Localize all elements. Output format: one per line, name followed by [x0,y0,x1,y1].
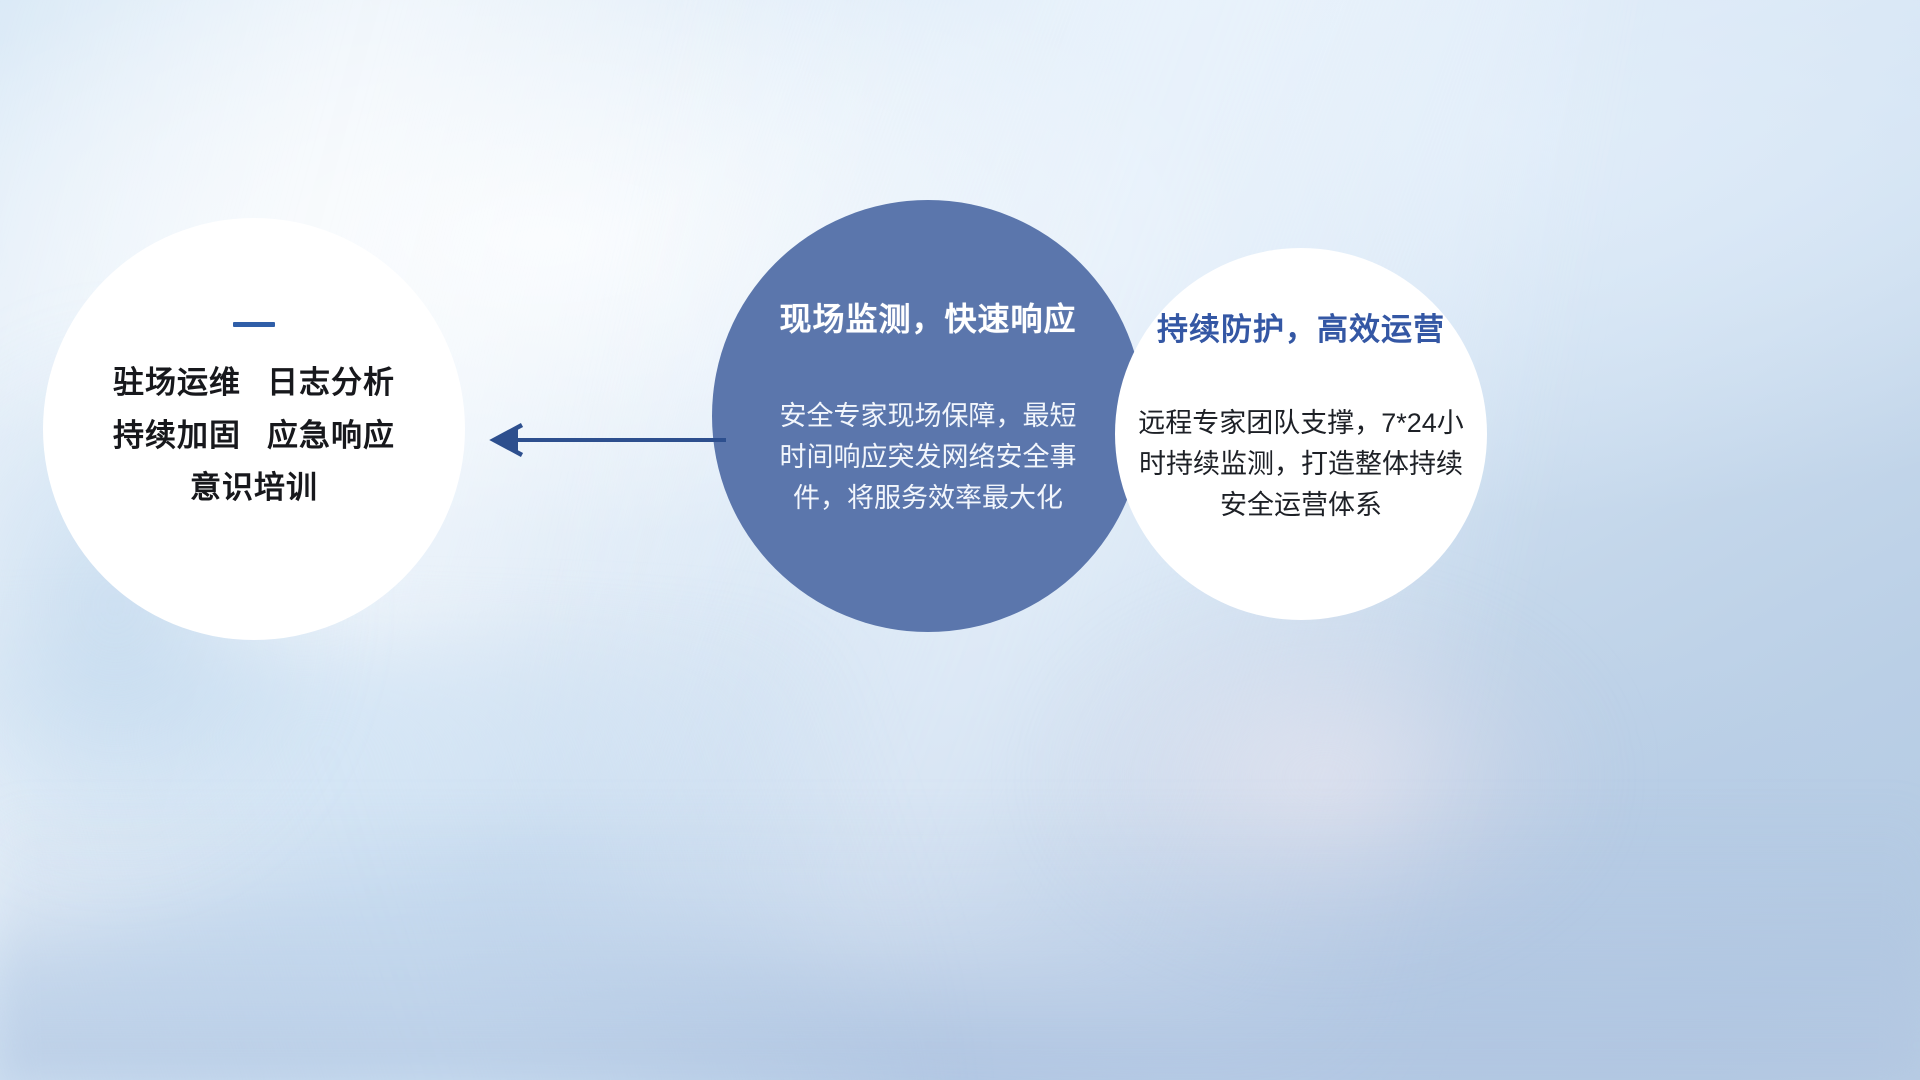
capability-label-yingjixiangying: 应急响应 [267,418,395,453]
left-capability-circle[interactable]: 驻场运维日志分析 持续加固应急响应 意识培训 [43,218,465,640]
capability-row-2: 持续加固应急响应 [113,420,395,453]
middle-circle-body: 安全专家现场保障，最短时间响应突发网络安全事件，将服务效率最大化 [779,396,1077,519]
capability-label-zhuchangyunwei: 驻场运维 [113,365,241,400]
arrow-left-icon [488,418,730,462]
capability-row-1: 驻场运维日志分析 [113,367,395,400]
capability-label-chixujiagu: 持续加固 [113,418,241,453]
capability-label-rizhifenxi: 日志分析 [267,365,395,400]
right-service-circle[interactable]: 持续防护，高效运营 远程专家团队支撑，7*24小时持续监测，打造整体持续安全运营… [1115,248,1487,620]
right-circle-title: 持续防护，高效运营 [1157,304,1445,349]
capability-label-yishipeixun: 意识培训 [190,470,318,505]
diagram-stage: 驻场运维日志分析 持续加固应急响应 意识培训 现场监测，快速响应 安全专家现场保… [0,0,1920,1080]
middle-service-circle[interactable]: 现场监测，快速响应 安全专家现场保障，最短时间响应突发网络安全事件，将服务效率最… [712,200,1144,632]
capability-list: 驻场运维日志分析 持续加固应急响应 意识培训 [43,367,465,505]
middle-circle-title: 现场监测，快速响应 [779,294,1076,340]
capability-row-3: 意识培训 [190,472,318,505]
right-circle-body: 远程专家团队支撑，7*24小时持续监测，打造整体持续安全运营体系 [1135,403,1467,526]
divider-dash [233,322,275,327]
